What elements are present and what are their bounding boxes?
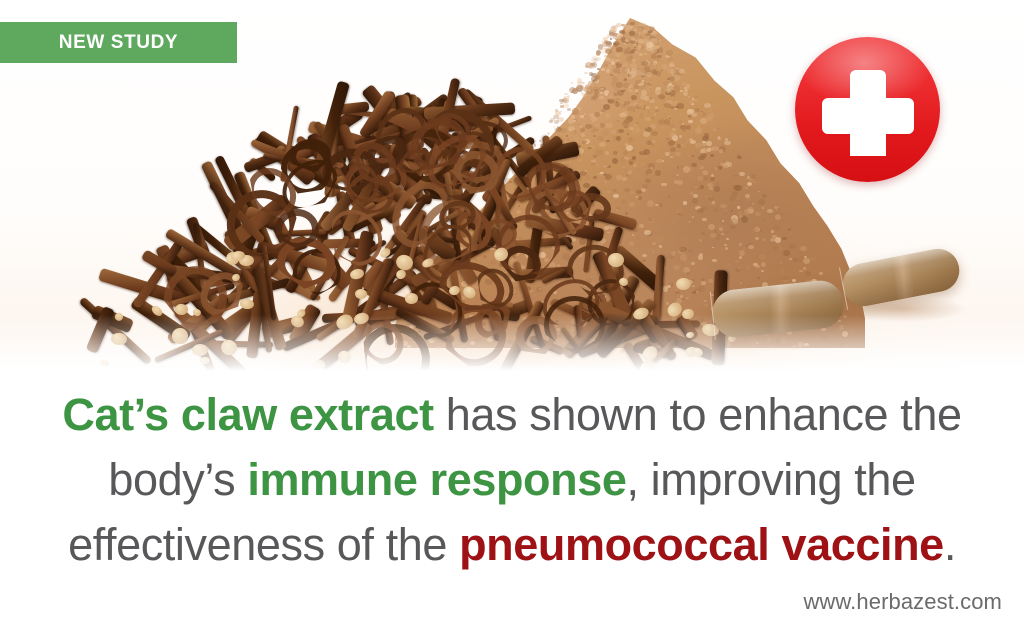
- headline-highlight-catsclaw: Cat’s claw extract: [62, 389, 433, 440]
- headline-highlight-pneumococcal-vaccine: pneumococcal vaccine: [459, 519, 944, 570]
- bark-cut-tip: [681, 308, 695, 320]
- headline-line-2: body’s immune response, improving the: [0, 447, 1024, 512]
- headline: Cat’s claw extract has shown to enhance …: [0, 382, 1024, 577]
- site-url: www.herbazest.com: [803, 589, 1002, 615]
- medical-cross-badge: [795, 37, 940, 182]
- medical-cross-icon: [822, 64, 914, 156]
- headline-line-2-rest: , improving the: [626, 454, 915, 505]
- headline-line-2-lead: body’s: [108, 454, 247, 505]
- headline-highlight-immune-response: immune response: [247, 454, 626, 505]
- bark-cut-tip: [200, 356, 210, 363]
- headline-line-3: effectiveness of the pneumococcal vaccin…: [0, 512, 1024, 577]
- infographic-canvas: NEW STUDY Cat’s claw extract has shown t…: [0, 0, 1024, 640]
- bark-cut-tip: [99, 359, 109, 367]
- bark-pile: [70, 96, 770, 366]
- new-study-badge: NEW STUDY: [0, 22, 237, 63]
- headline-line-3-lead: effectiveness of the: [68, 519, 459, 570]
- new-study-badge-label: NEW STUDY: [59, 32, 178, 54]
- headline-line-3-rest: .: [944, 519, 956, 570]
- bark-cut-tip: [405, 293, 418, 304]
- headline-line-1: Cat’s claw extract has shown to enhance …: [0, 382, 1024, 447]
- bark-cut-tip: [676, 278, 692, 291]
- headline-line-1-rest: has shown to enhance the: [434, 389, 962, 440]
